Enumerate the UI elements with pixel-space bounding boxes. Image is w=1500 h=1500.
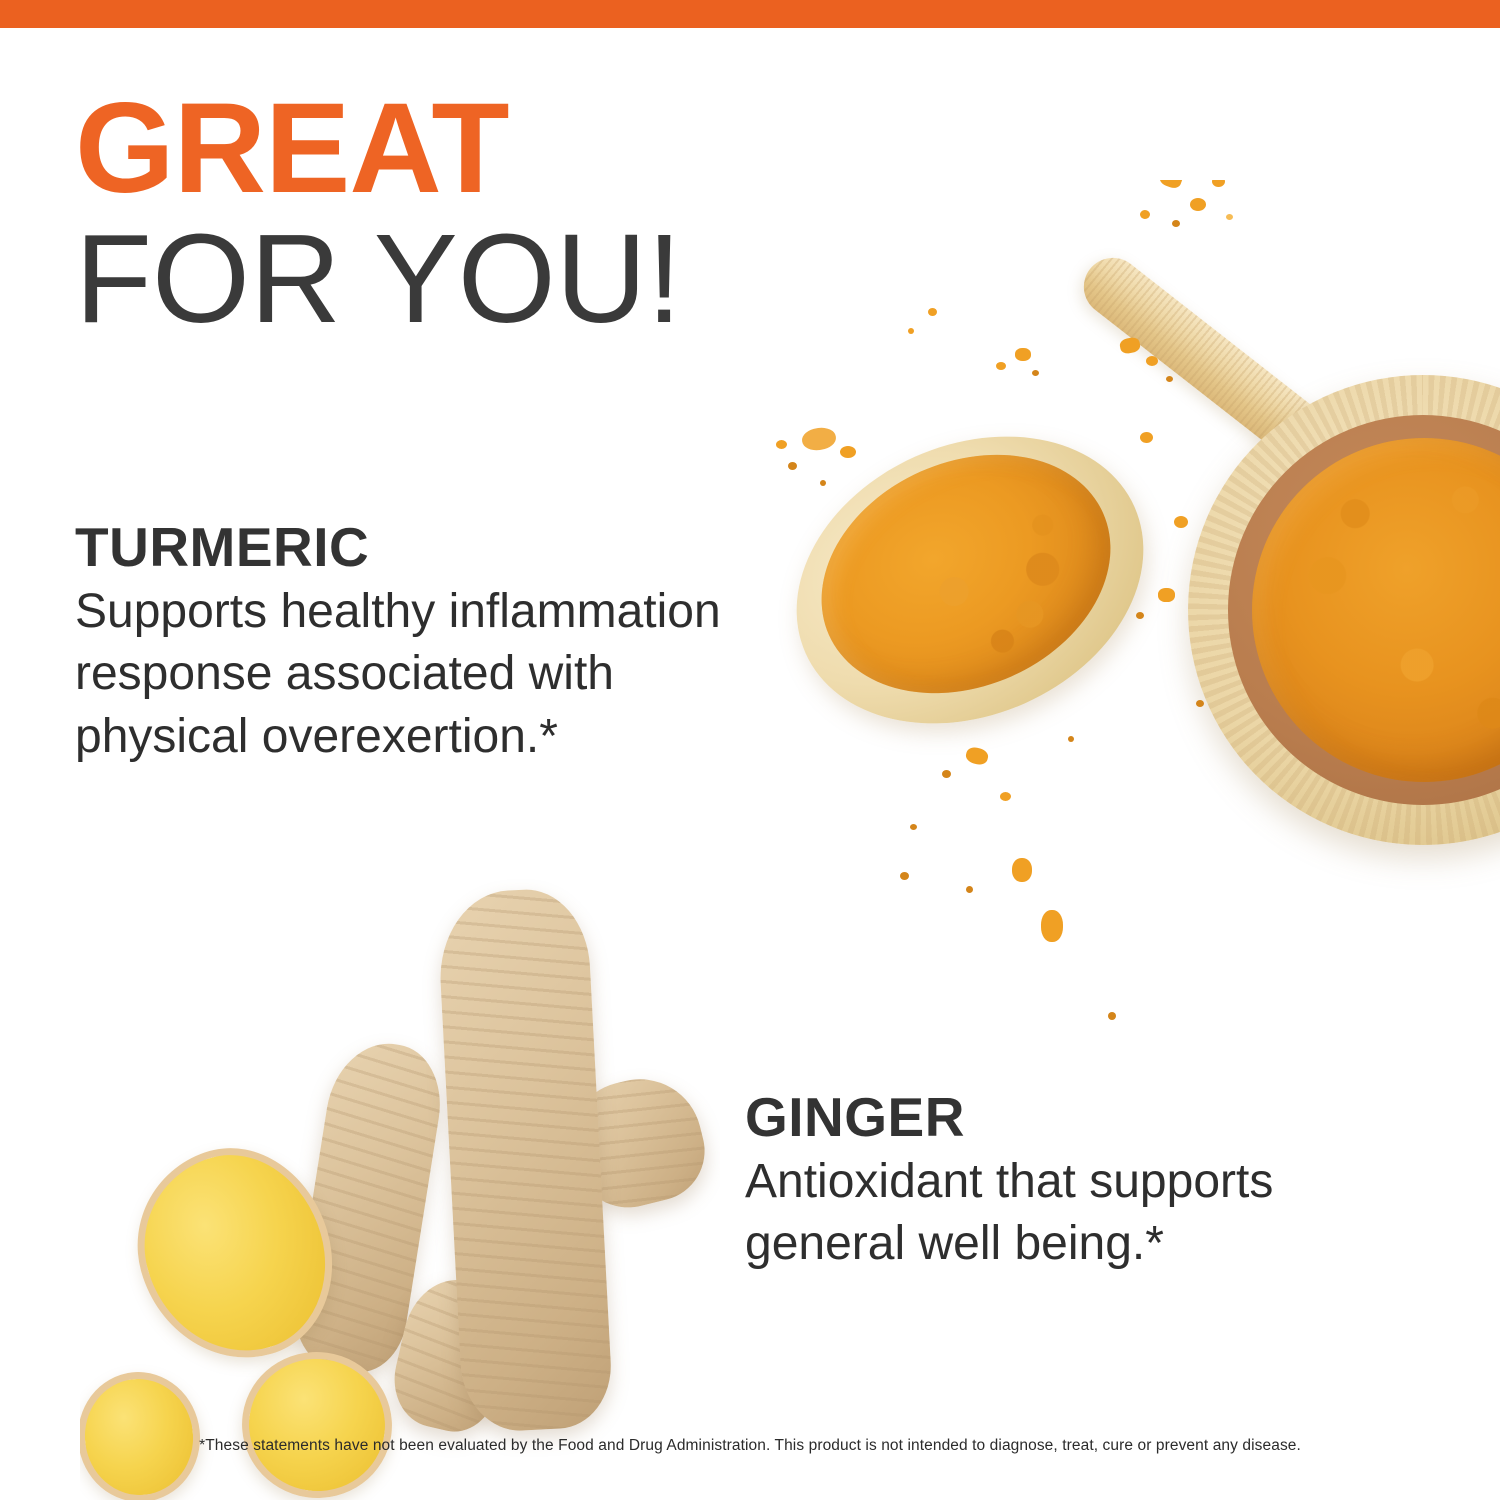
fda-disclaimer: *These statements have not been evaluate… [0, 1437, 1500, 1455]
powder-speck [1190, 198, 1206, 211]
powder-speck [840, 446, 856, 458]
ginger-photo [80, 870, 720, 1500]
ingredient-title-ginger: GINGER [745, 1090, 1425, 1145]
powder-speck [1119, 336, 1142, 355]
powder-speck [1000, 792, 1011, 801]
powder-speck [1158, 180, 1184, 190]
page-title: GREAT FOR YOU! [75, 88, 682, 343]
powder-speck [942, 770, 951, 778]
ginger-root-main [436, 886, 614, 1433]
powder-speck [776, 440, 787, 449]
ingredient-block-turmeric: TURMERIC Supports healthy inflammation r… [75, 520, 755, 768]
powder-speck [1146, 356, 1158, 366]
powder-speck [1140, 210, 1150, 219]
powder-speck [1012, 858, 1032, 882]
top-accent-bar [0, 0, 1500, 28]
headline-line-2: FOR YOU! [75, 215, 682, 344]
ginger-slice [80, 1366, 206, 1500]
ingredient-description-ginger: Antioxidant that supports general well b… [745, 1151, 1425, 1276]
powder-speck [1032, 370, 1039, 376]
powder-speck [1196, 700, 1204, 707]
powder-speck [1212, 180, 1225, 187]
powder-speck [788, 462, 797, 470]
headline-line-1: GREAT [75, 88, 682, 211]
powder-speck [1158, 588, 1175, 602]
powder-speck [928, 308, 937, 316]
powder-speck [1068, 736, 1074, 742]
ingredient-title-turmeric: TURMERIC [75, 520, 755, 575]
turmeric-photo [760, 180, 1500, 920]
powder-speck [820, 480, 826, 486]
powder-speck [801, 426, 838, 453]
powder-speck [1226, 214, 1233, 220]
powder-speck [908, 328, 914, 334]
powder-speck [1172, 220, 1180, 227]
powder-speck [1174, 516, 1188, 528]
powder-speck [1108, 1012, 1116, 1020]
powder-speck [1140, 432, 1153, 443]
powder-speck [966, 886, 973, 893]
infographic-page: GREAT FOR YOU! TURMERIC Supports healthy… [0, 0, 1500, 1500]
ingredient-description-turmeric: Supports healthy inflammation response a… [75, 581, 755, 768]
powder-speck [1015, 348, 1031, 361]
powder-speck [996, 362, 1006, 370]
powder-speck [1041, 910, 1063, 942]
powder-speck [964, 746, 989, 767]
powder-speck [900, 872, 909, 880]
powder-speck [1166, 376, 1173, 382]
ingredient-block-ginger: GINGER Antioxidant that supports general… [745, 1090, 1425, 1276]
powder-speck [910, 824, 917, 830]
powder-speck [1136, 612, 1144, 619]
